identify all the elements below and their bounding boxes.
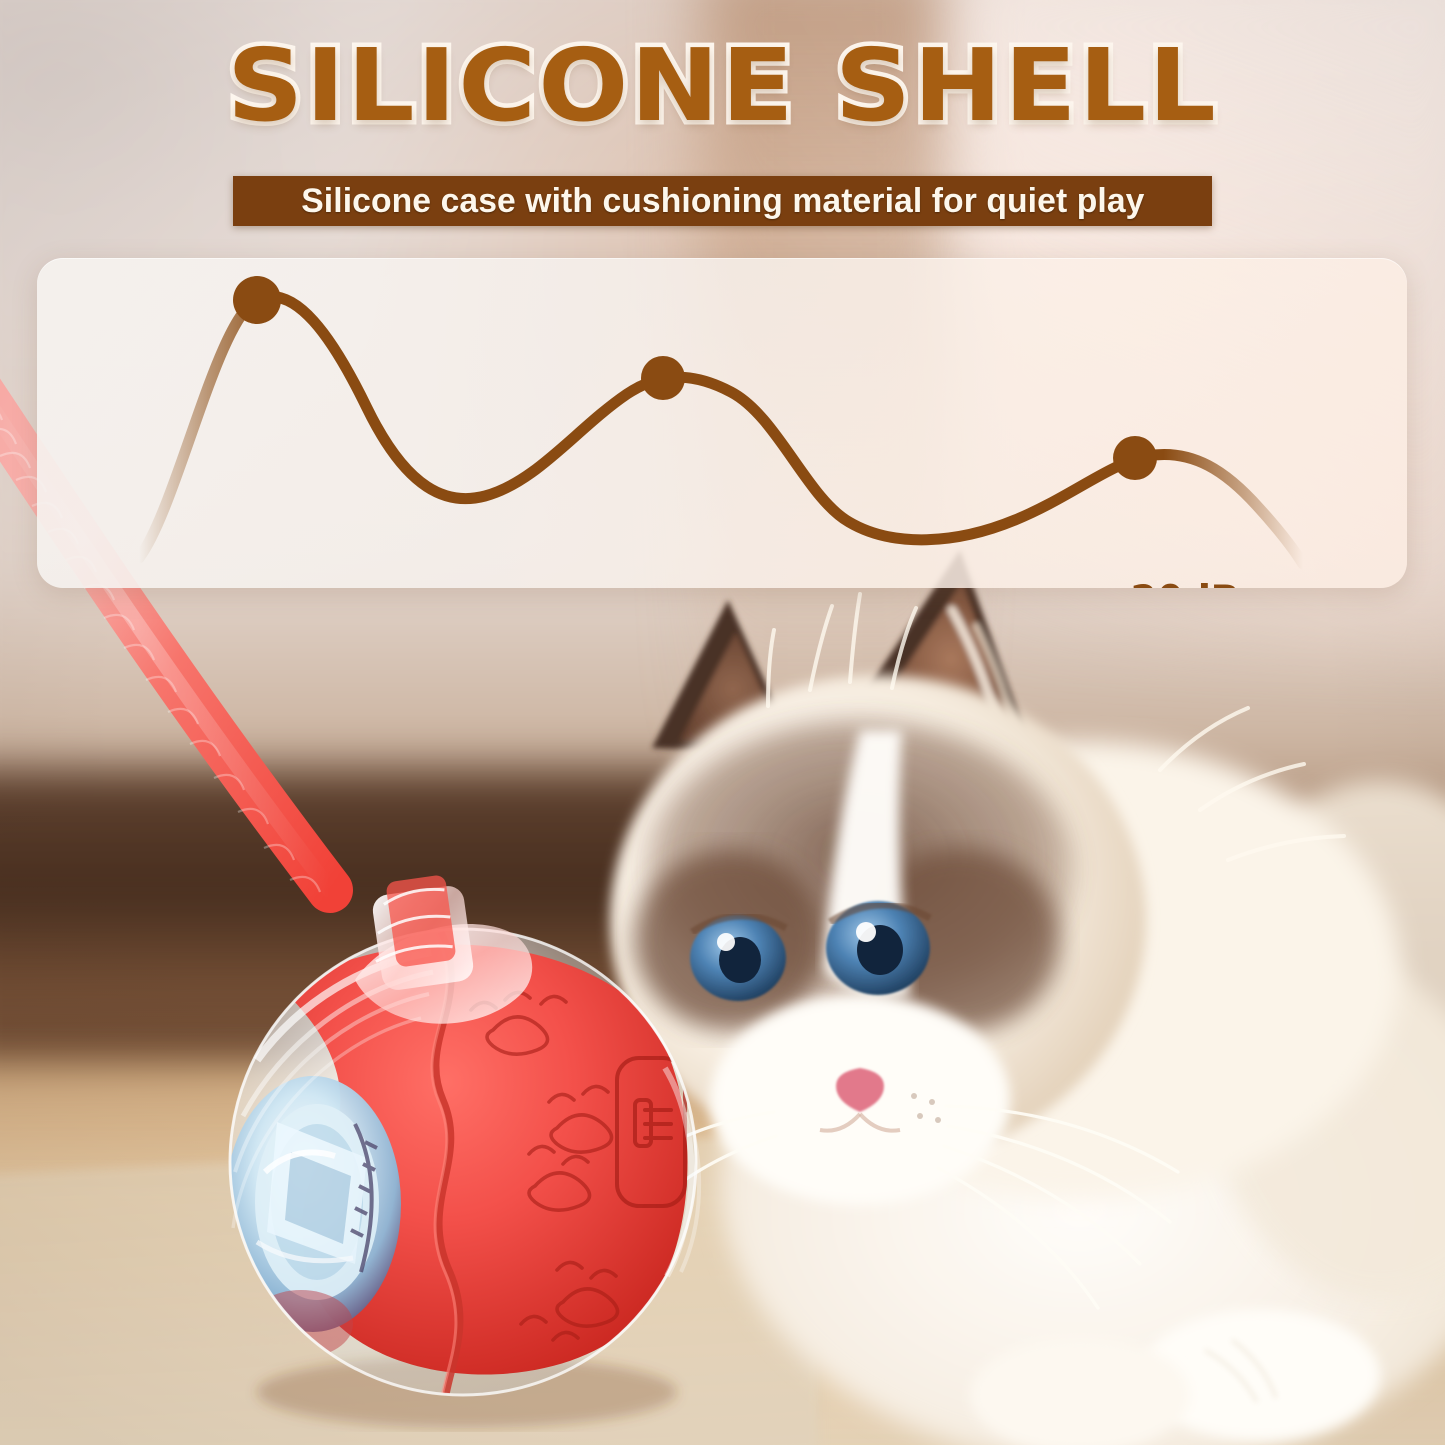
- subtitle-text: Silicone case with cushioning material f…: [301, 182, 1144, 221]
- data-point-toyball: [641, 356, 685, 400]
- silicone-toy-ball: [205, 872, 745, 1432]
- data-point-hairdryer: [233, 276, 281, 324]
- sound-level-panel: 80dB Hairdryer ≤50dB Toy ball 20dB Night: [37, 258, 1407, 588]
- data-point-night: [1113, 436, 1157, 480]
- sound-wave-chart: [37, 258, 1407, 588]
- infographic-canvas: 80dB Hairdryer ≤50dB Toy ball 20dB Night…: [0, 0, 1445, 1445]
- page-title: SILICONE SHELL: [0, 36, 1445, 136]
- subtitle-bar: Silicone case with cushioning material f…: [233, 176, 1212, 226]
